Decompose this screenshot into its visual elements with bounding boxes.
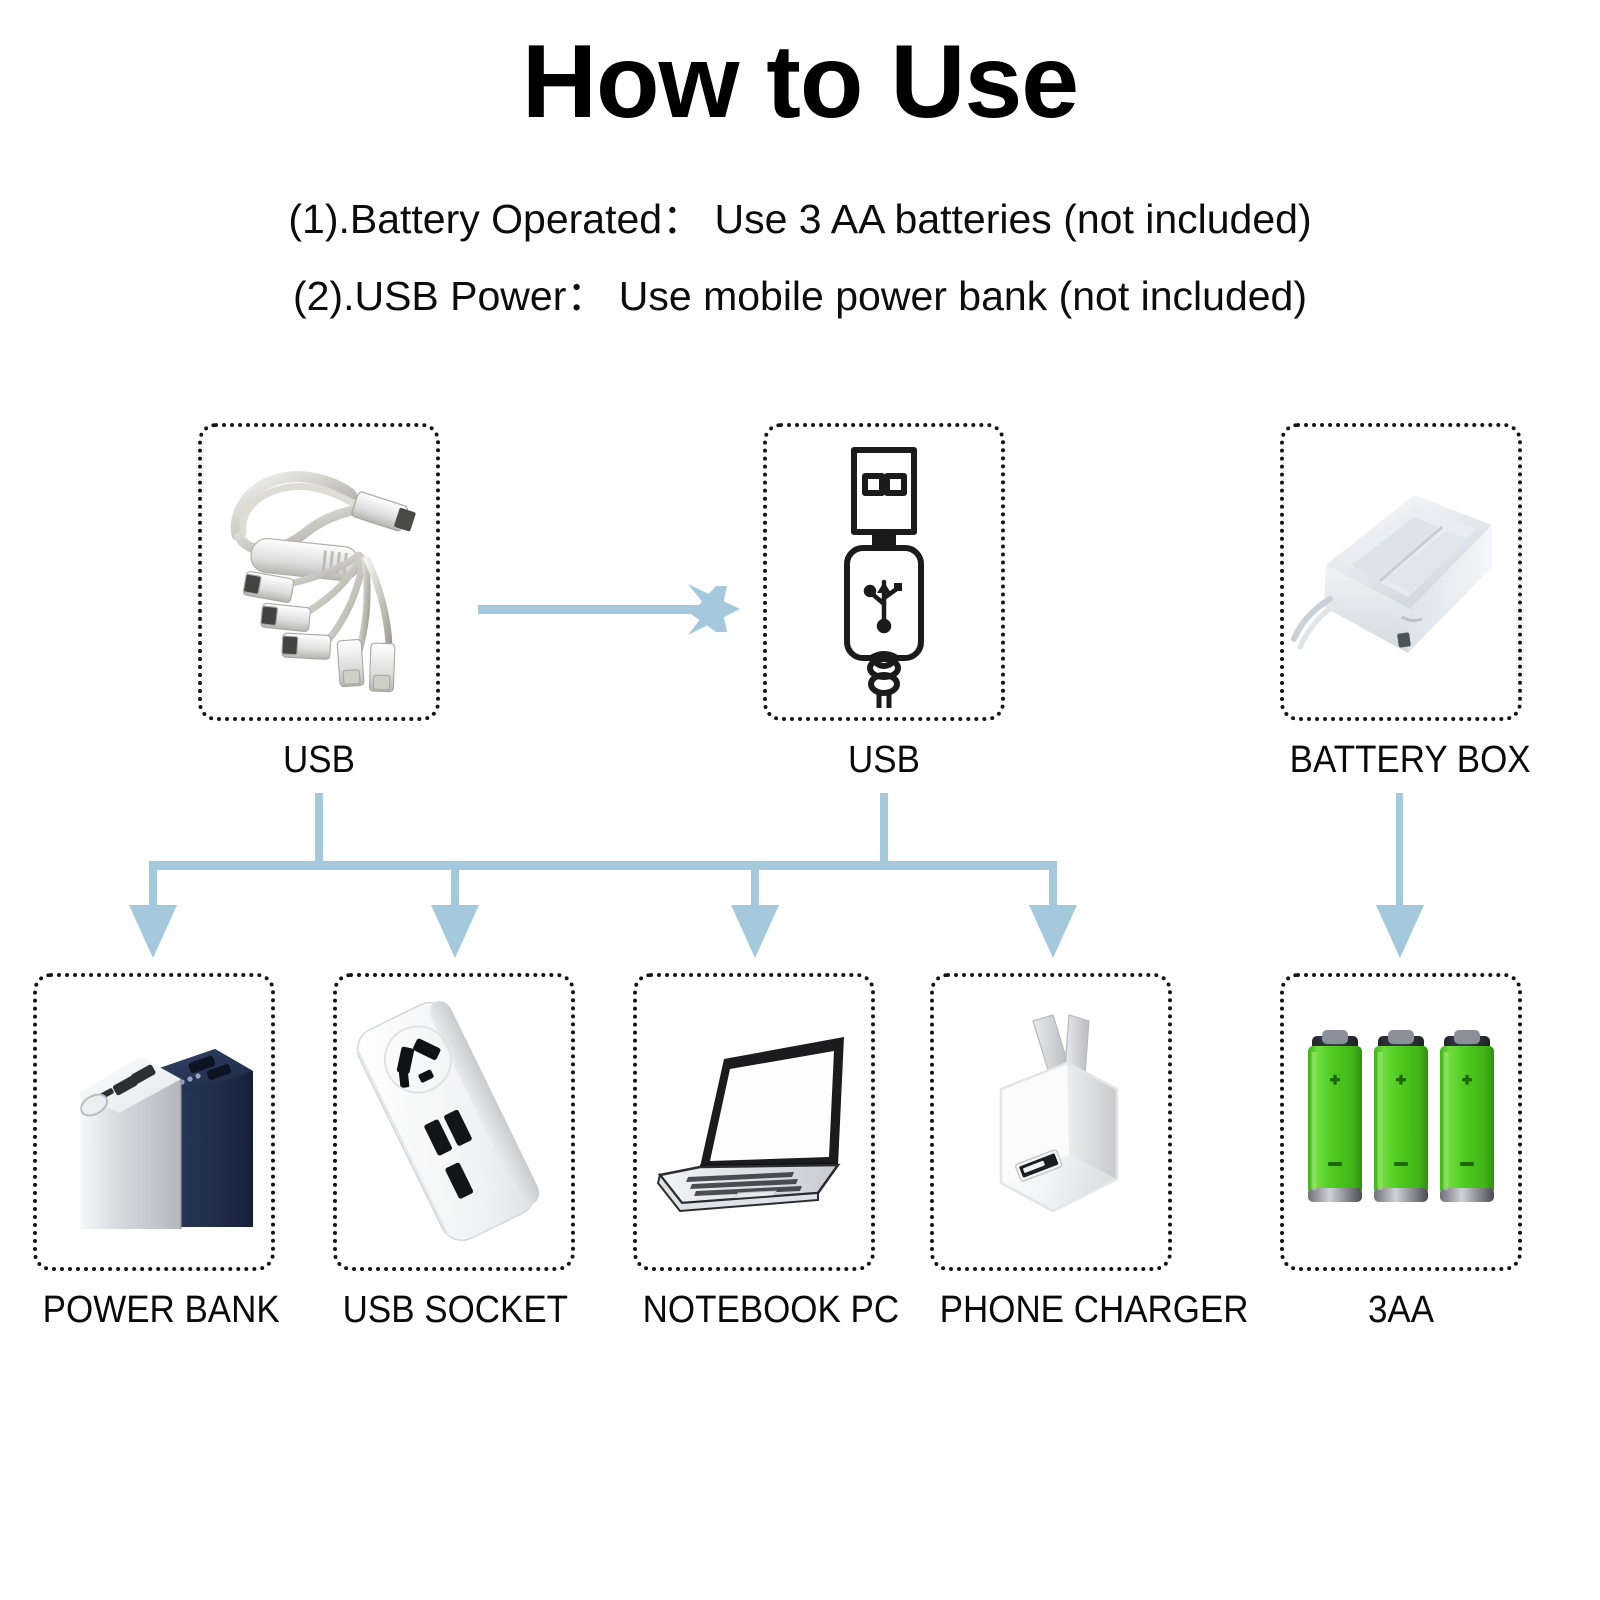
page-title: How to Use [0,26,1600,138]
how-to-use-diagram: How to Use (1).Battery Operated： Use 3 A… [0,0,1600,1600]
three-aa-image [1280,973,1522,1271]
usb-socket-caption: USB SOCKET [343,1289,566,1332]
usb-socket-image [333,973,575,1271]
bus-line [149,861,1057,870]
battery-box-image [1280,423,1522,721]
usb-cable-caption: USB [208,739,431,782]
notebook-pc-image [633,973,875,1271]
branch-arrow-phone-charger [1029,866,1077,958]
instruction-line-1: (1).Battery Operated： Use 3 AA batteries… [0,185,1600,245]
branch-arrow-notebook-pc [731,866,779,958]
instruction-line-2: (2).USB Power： Use mobile power bank (no… [0,262,1600,322]
item-usb-plug[interactable]: USB [763,423,1005,721]
branch-arrow-three-aa [1376,793,1424,958]
phone-charger-image [930,973,1172,1271]
power-bank-image [33,973,275,1271]
item-three-aa[interactable]: 3AA [1280,973,1522,1271]
power-bank-caption: POWER BANK [43,1289,266,1332]
item-notebook-pc[interactable]: NOTEBOOK PC [633,973,875,1271]
usb-plug-caption: USB [773,739,996,782]
item-usb-cable[interactable]: USB [198,423,440,721]
item-phone-charger[interactable]: PHONE CHARGER [930,973,1172,1271]
usb-plug-icon [763,423,1005,721]
arrow-usb-cable-to-usb-plug [478,584,740,635]
three-aa-caption: 3AA [1290,1289,1513,1332]
notebook-pc-caption: NOTEBOOK PC [643,1289,866,1332]
branch-arrow-power-bank [129,866,177,958]
usb-cable-image [198,423,440,721]
stem-usb-cable [315,793,323,869]
item-battery-box[interactable]: BATTERY BOX [1280,423,1522,721]
battery-box-caption: BATTERY BOX [1290,739,1513,782]
item-power-bank[interactable]: POWER BANK [33,973,275,1271]
item-usb-socket[interactable]: USB SOCKET [333,973,575,1271]
phone-charger-caption: PHONE CHARGER [940,1289,1163,1332]
branch-arrow-usb-socket [431,866,479,958]
stem-usb-plug [880,793,888,869]
